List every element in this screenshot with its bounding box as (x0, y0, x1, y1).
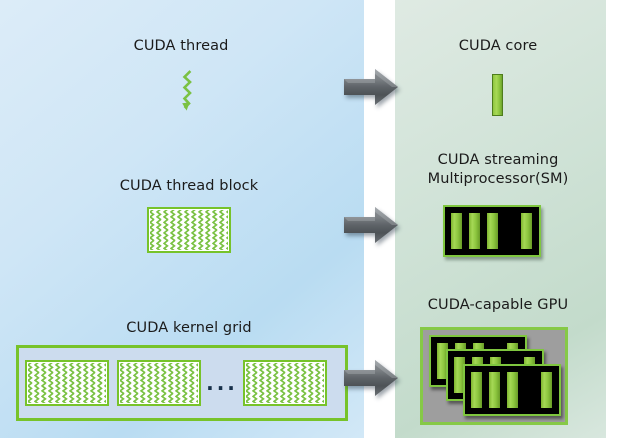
label-cuda-thread: CUDA thread (84, 38, 278, 55)
label-cuda-streaming-line1: CUDA streaming (400, 152, 596, 169)
cuda-core-bar-icon (492, 74, 503, 116)
label-cuda-core: CUDA core (408, 38, 588, 55)
streaming-multiprocessor-icon (443, 205, 541, 257)
thread-squiggle-icon (180, 70, 196, 114)
label-cuda-thread-block: CUDA thread block (82, 178, 296, 195)
arrow-grid-to-gpu (342, 357, 400, 399)
thread-block-icon (147, 207, 231, 253)
label-cuda-streaming-line2: Multiprocessor(SM) (400, 171, 596, 188)
diagram-canvas: CUDA thread CUDA thread block CUDA kerne… (0, 0, 625, 438)
kernel-grid-block (117, 360, 201, 406)
gpu-sm-card (463, 364, 561, 416)
gpu-stack-icon (420, 327, 568, 425)
kernel-grid-ellipsis: ... (201, 378, 243, 388)
arrow-thread-to-core (342, 66, 400, 108)
label-cuda-kernel-grid: CUDA kernel grid (74, 320, 304, 337)
arrow-block-to-sm (342, 204, 400, 246)
kernel-grid-icon: ... (16, 345, 348, 421)
kernel-grid-block (25, 360, 109, 406)
label-cuda-capable-gpu: CUDA-capable GPU (402, 297, 594, 314)
kernel-grid-block (243, 360, 327, 406)
